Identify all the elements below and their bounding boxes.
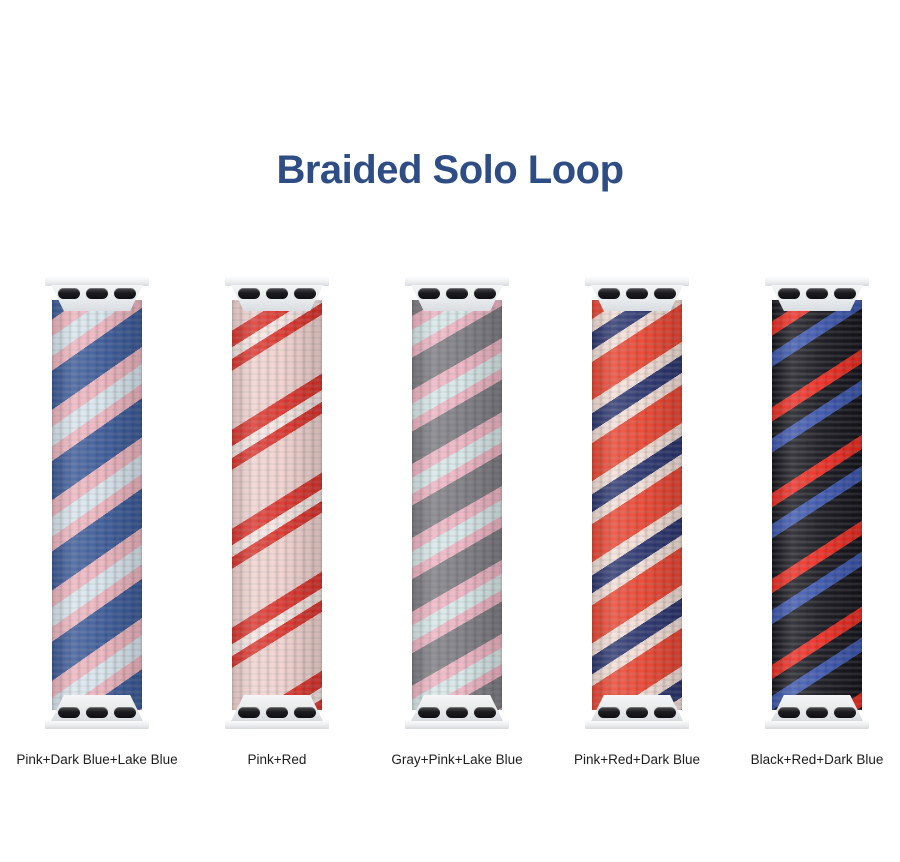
watch-connector-lug-top [45, 277, 149, 311]
lug-plate [45, 720, 149, 729]
lug-slot [58, 288, 80, 299]
lug-slot-group [598, 707, 676, 718]
lug-slot [446, 288, 468, 299]
lug-slot [778, 288, 800, 299]
lug-slot-group [598, 288, 676, 299]
lug-slot-group [238, 288, 316, 299]
lug-plate [765, 277, 869, 286]
product-color-label: Black+Red+Dark Blue [715, 752, 900, 767]
band-strap [52, 300, 142, 710]
product-pink-dark-blue-lake-blue[interactable]: Pink+Dark Blue+Lake Blue [7, 270, 187, 790]
band-strap [232, 300, 322, 710]
lug-slot [114, 288, 136, 299]
lug-plate [405, 720, 509, 729]
lug-slot [474, 707, 496, 718]
watch-connector-lug-bottom [765, 695, 869, 729]
lug-slot-group [58, 707, 136, 718]
braid-weave [52, 300, 142, 710]
lug-slot [598, 707, 620, 718]
lug-slot [806, 707, 828, 718]
lug-slot [238, 288, 260, 299]
lug-slot-group [778, 288, 856, 299]
lug-slot [778, 707, 800, 718]
product-black-red-dark-blue[interactable]: Black+Red+Dark Blue [727, 270, 900, 790]
lug-slot [418, 707, 440, 718]
lug-slot [418, 288, 440, 299]
band-strap [412, 300, 502, 710]
band-strap [772, 300, 862, 710]
product-pink-red[interactable]: Pink+Red [187, 270, 367, 790]
lug-slot [446, 707, 468, 718]
lug-slot [114, 707, 136, 718]
lug-plate [585, 720, 689, 729]
lug-slot [294, 707, 316, 718]
braid-weave [592, 300, 682, 710]
watch-connector-lug-bottom [405, 695, 509, 729]
lug-plate [405, 277, 509, 286]
watch-connector-lug-bottom [585, 695, 689, 729]
lug-slot [626, 288, 648, 299]
product-color-label: Pink+Red+Dark Blue [535, 752, 739, 767]
lug-slot [58, 707, 80, 718]
watch-connector-lug-bottom [225, 695, 329, 729]
lug-slot [806, 288, 828, 299]
watch-connector-lug-top [585, 277, 689, 311]
product-pink-red-dark-blue[interactable]: Pink+Red+Dark Blue [547, 270, 727, 790]
product-color-label: Gray+Pink+Lake Blue [355, 752, 559, 767]
lug-slot [266, 707, 288, 718]
braid-weave [412, 300, 502, 710]
lug-slot-group [418, 707, 496, 718]
lug-plate [585, 277, 689, 286]
lug-slot [474, 288, 496, 299]
lug-plate [225, 277, 329, 286]
lug-slot-group [418, 288, 496, 299]
watch-connector-lug-top [225, 277, 329, 311]
product-color-label: Pink+Dark Blue+Lake Blue [0, 752, 199, 767]
lug-slot [598, 288, 620, 299]
lug-slot [654, 707, 676, 718]
product-color-label: Pink+Red [175, 752, 379, 767]
lug-slot [86, 288, 108, 299]
watch-connector-lug-bottom [45, 695, 149, 729]
lug-slot [294, 288, 316, 299]
braid-weave [232, 300, 322, 710]
braid-weave [772, 300, 862, 710]
lug-slot-group [778, 707, 856, 718]
watch-connector-lug-top [765, 277, 869, 311]
lug-slot [238, 707, 260, 718]
product-gray-pink-lake-blue[interactable]: Gray+Pink+Lake Blue [367, 270, 547, 790]
lug-slot [834, 707, 856, 718]
page-title: Braided Solo Loop [0, 148, 900, 193]
lug-slot [266, 288, 288, 299]
lug-slot-group [58, 288, 136, 299]
lug-plate [765, 720, 869, 729]
lug-slot [626, 707, 648, 718]
watch-connector-lug-top [405, 277, 509, 311]
lug-slot [834, 288, 856, 299]
lug-plate [225, 720, 329, 729]
lug-slot-group [238, 707, 316, 718]
lug-plate [45, 277, 149, 286]
product-image-canvas: Braided Solo Loop Pink+Dark Blue+Lake Bl… [0, 0, 900, 862]
product-row: Pink+Dark Blue+Lake BluePink+RedGray+Pin… [0, 270, 900, 790]
band-strap [592, 300, 682, 710]
lug-slot [86, 707, 108, 718]
lug-slot [654, 288, 676, 299]
